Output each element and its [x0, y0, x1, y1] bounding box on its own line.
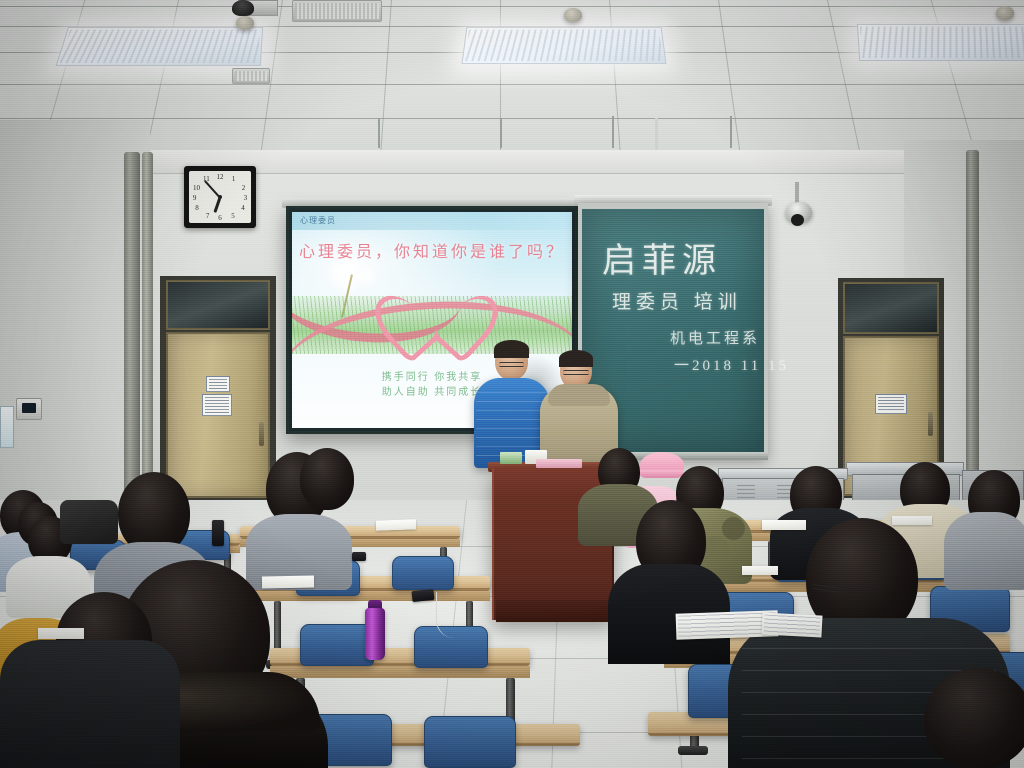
- desk-row4-left-front: [270, 666, 530, 678]
- ac-vent-2: [232, 68, 270, 84]
- right-door-notice-1: [875, 394, 907, 414]
- phone-1[interactable]: [212, 520, 224, 546]
- wall-dome-camera-icon: [786, 202, 812, 222]
- paper-6: [742, 566, 778, 575]
- ceiling-light-2: [461, 27, 666, 64]
- blackboard-headline: 启菲源: [602, 233, 722, 282]
- paper-1: [376, 519, 416, 530]
- right-door-handle[interactable]: [928, 412, 933, 436]
- podium-pink-folder: [536, 459, 582, 468]
- ceiling-light-1: [56, 27, 264, 66]
- charging-cable: [436, 592, 464, 638]
- left-door-notice-1: [206, 376, 230, 392]
- slide-dandelion-art-2: [354, 264, 378, 288]
- presenter-right-hair: [559, 350, 593, 367]
- slide-header-text: 心理委员: [300, 215, 336, 226]
- left-door-transom: [166, 280, 270, 330]
- wall-pipe-right: [966, 150, 979, 480]
- paper-3: [38, 628, 84, 639]
- paper-5: [892, 516, 932, 525]
- ac-vent-1: [292, 0, 382, 22]
- ceiling: [0, 0, 1024, 170]
- wall-beam-upper: [0, 150, 1024, 174]
- classroom-photo: 12 1 2 3 4 5 6 7 8 9 10 11 心理委员: [0, 0, 1024, 768]
- wall-pipe-left: [124, 152, 140, 502]
- slide-heart-art: [399, 268, 473, 334]
- presenter-right-glasses: [563, 370, 589, 375]
- chair-left-4[interactable]: [392, 556, 454, 590]
- phone-2[interactable]: [411, 589, 434, 602]
- blackboard-department: 机电工程系: [670, 327, 760, 348]
- blackboard-date: 一2018 11 15: [674, 354, 789, 375]
- student-pink-cap-brim: [638, 470, 684, 478]
- slide-title: 心理委员，你知道你是谁了吗？: [292, 238, 572, 262]
- access-card-reader-icon[interactable]: [16, 398, 42, 420]
- student-grey-puffer-body: [944, 512, 1024, 590]
- presenter-left-glasses: [499, 362, 524, 367]
- ceiling-speaker-1: [236, 16, 254, 30]
- light-rod-1: [378, 118, 380, 148]
- ceiling-dome-camera-icon: [232, 0, 254, 16]
- clock-face: 12 1 2 3 4 5 6 7 8 9 10 11: [189, 171, 251, 223]
- ceiling-light-3: [857, 24, 1024, 61]
- right-door-transom: [843, 282, 939, 334]
- chair-left-8[interactable]: [424, 716, 516, 768]
- wall-poster: [0, 406, 14, 448]
- chair-left-5[interactable]: [300, 624, 374, 666]
- paper-4: [762, 520, 806, 530]
- presenter-left-hair: [494, 340, 529, 358]
- paper-notebook-right: [761, 612, 822, 637]
- left-door[interactable]: [166, 332, 270, 498]
- presenter-right-hood: [548, 384, 610, 406]
- podium-base: [496, 600, 610, 622]
- left-door-notice-2: [202, 394, 232, 416]
- student-mid-grey-head: [300, 448, 354, 510]
- student-backpack: [60, 500, 118, 544]
- phone-3[interactable]: [352, 552, 366, 561]
- purple-water-bottle: [365, 608, 385, 660]
- student-left-jacket-body: [0, 640, 180, 768]
- paper-2: [262, 576, 314, 589]
- blackboard-subject: 理委员 培训: [612, 287, 742, 314]
- desk-foot-g1: [678, 746, 708, 755]
- wall-clock: 12 1 2 3 4 5 6 7 8 9 10 11: [184, 166, 256, 228]
- podium-green-book: [500, 452, 522, 464]
- light-rod-3: [612, 116, 614, 148]
- clock-hour-hand: [214, 198, 221, 213]
- left-door-handle[interactable]: [259, 422, 264, 446]
- ceiling-speaker-3: [996, 6, 1014, 20]
- light-rod-4: [730, 116, 732, 148]
- light-rod-2: [500, 118, 502, 148]
- wall-pipe-left-2: [142, 152, 153, 482]
- student-far-right-head: [924, 668, 1024, 768]
- ceiling-speaker-2: [564, 8, 582, 22]
